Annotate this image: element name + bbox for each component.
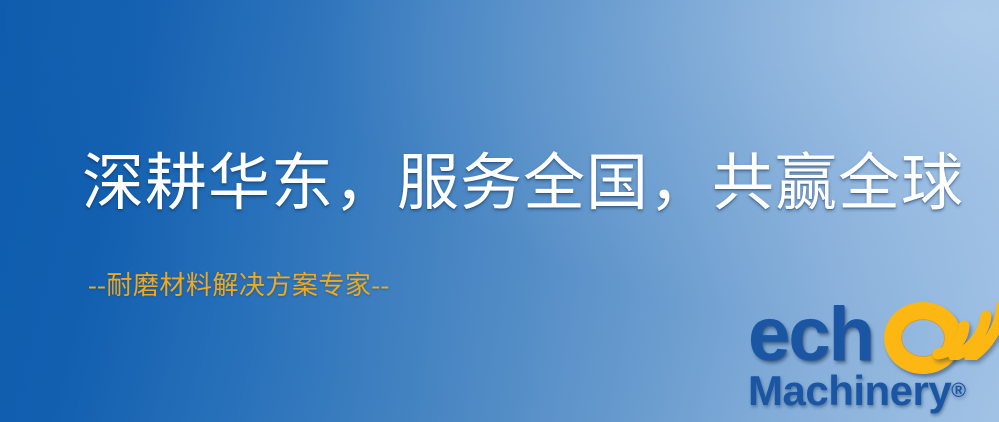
banner-headline: 深耕华东，服务全国，共赢全球 — [82, 152, 964, 218]
echo-machinery-logo: ech Machinery® — [744, 296, 999, 422]
logo-wordmark-ech: ech — [748, 296, 873, 374]
logo-tagline-text: Machinery — [748, 367, 951, 414]
promo-banner: 深耕华东，服务全国，共赢全球 --耐磨材料解决方案专家-- ech Machin… — [0, 0, 999, 422]
banner-subtitle: --耐磨材料解决方案专家-- — [88, 265, 390, 302]
registered-trademark-icon: ® — [951, 380, 966, 402]
wireless-signal-icon — [932, 280, 999, 360]
logo-tagline: Machinery® — [748, 368, 966, 414]
